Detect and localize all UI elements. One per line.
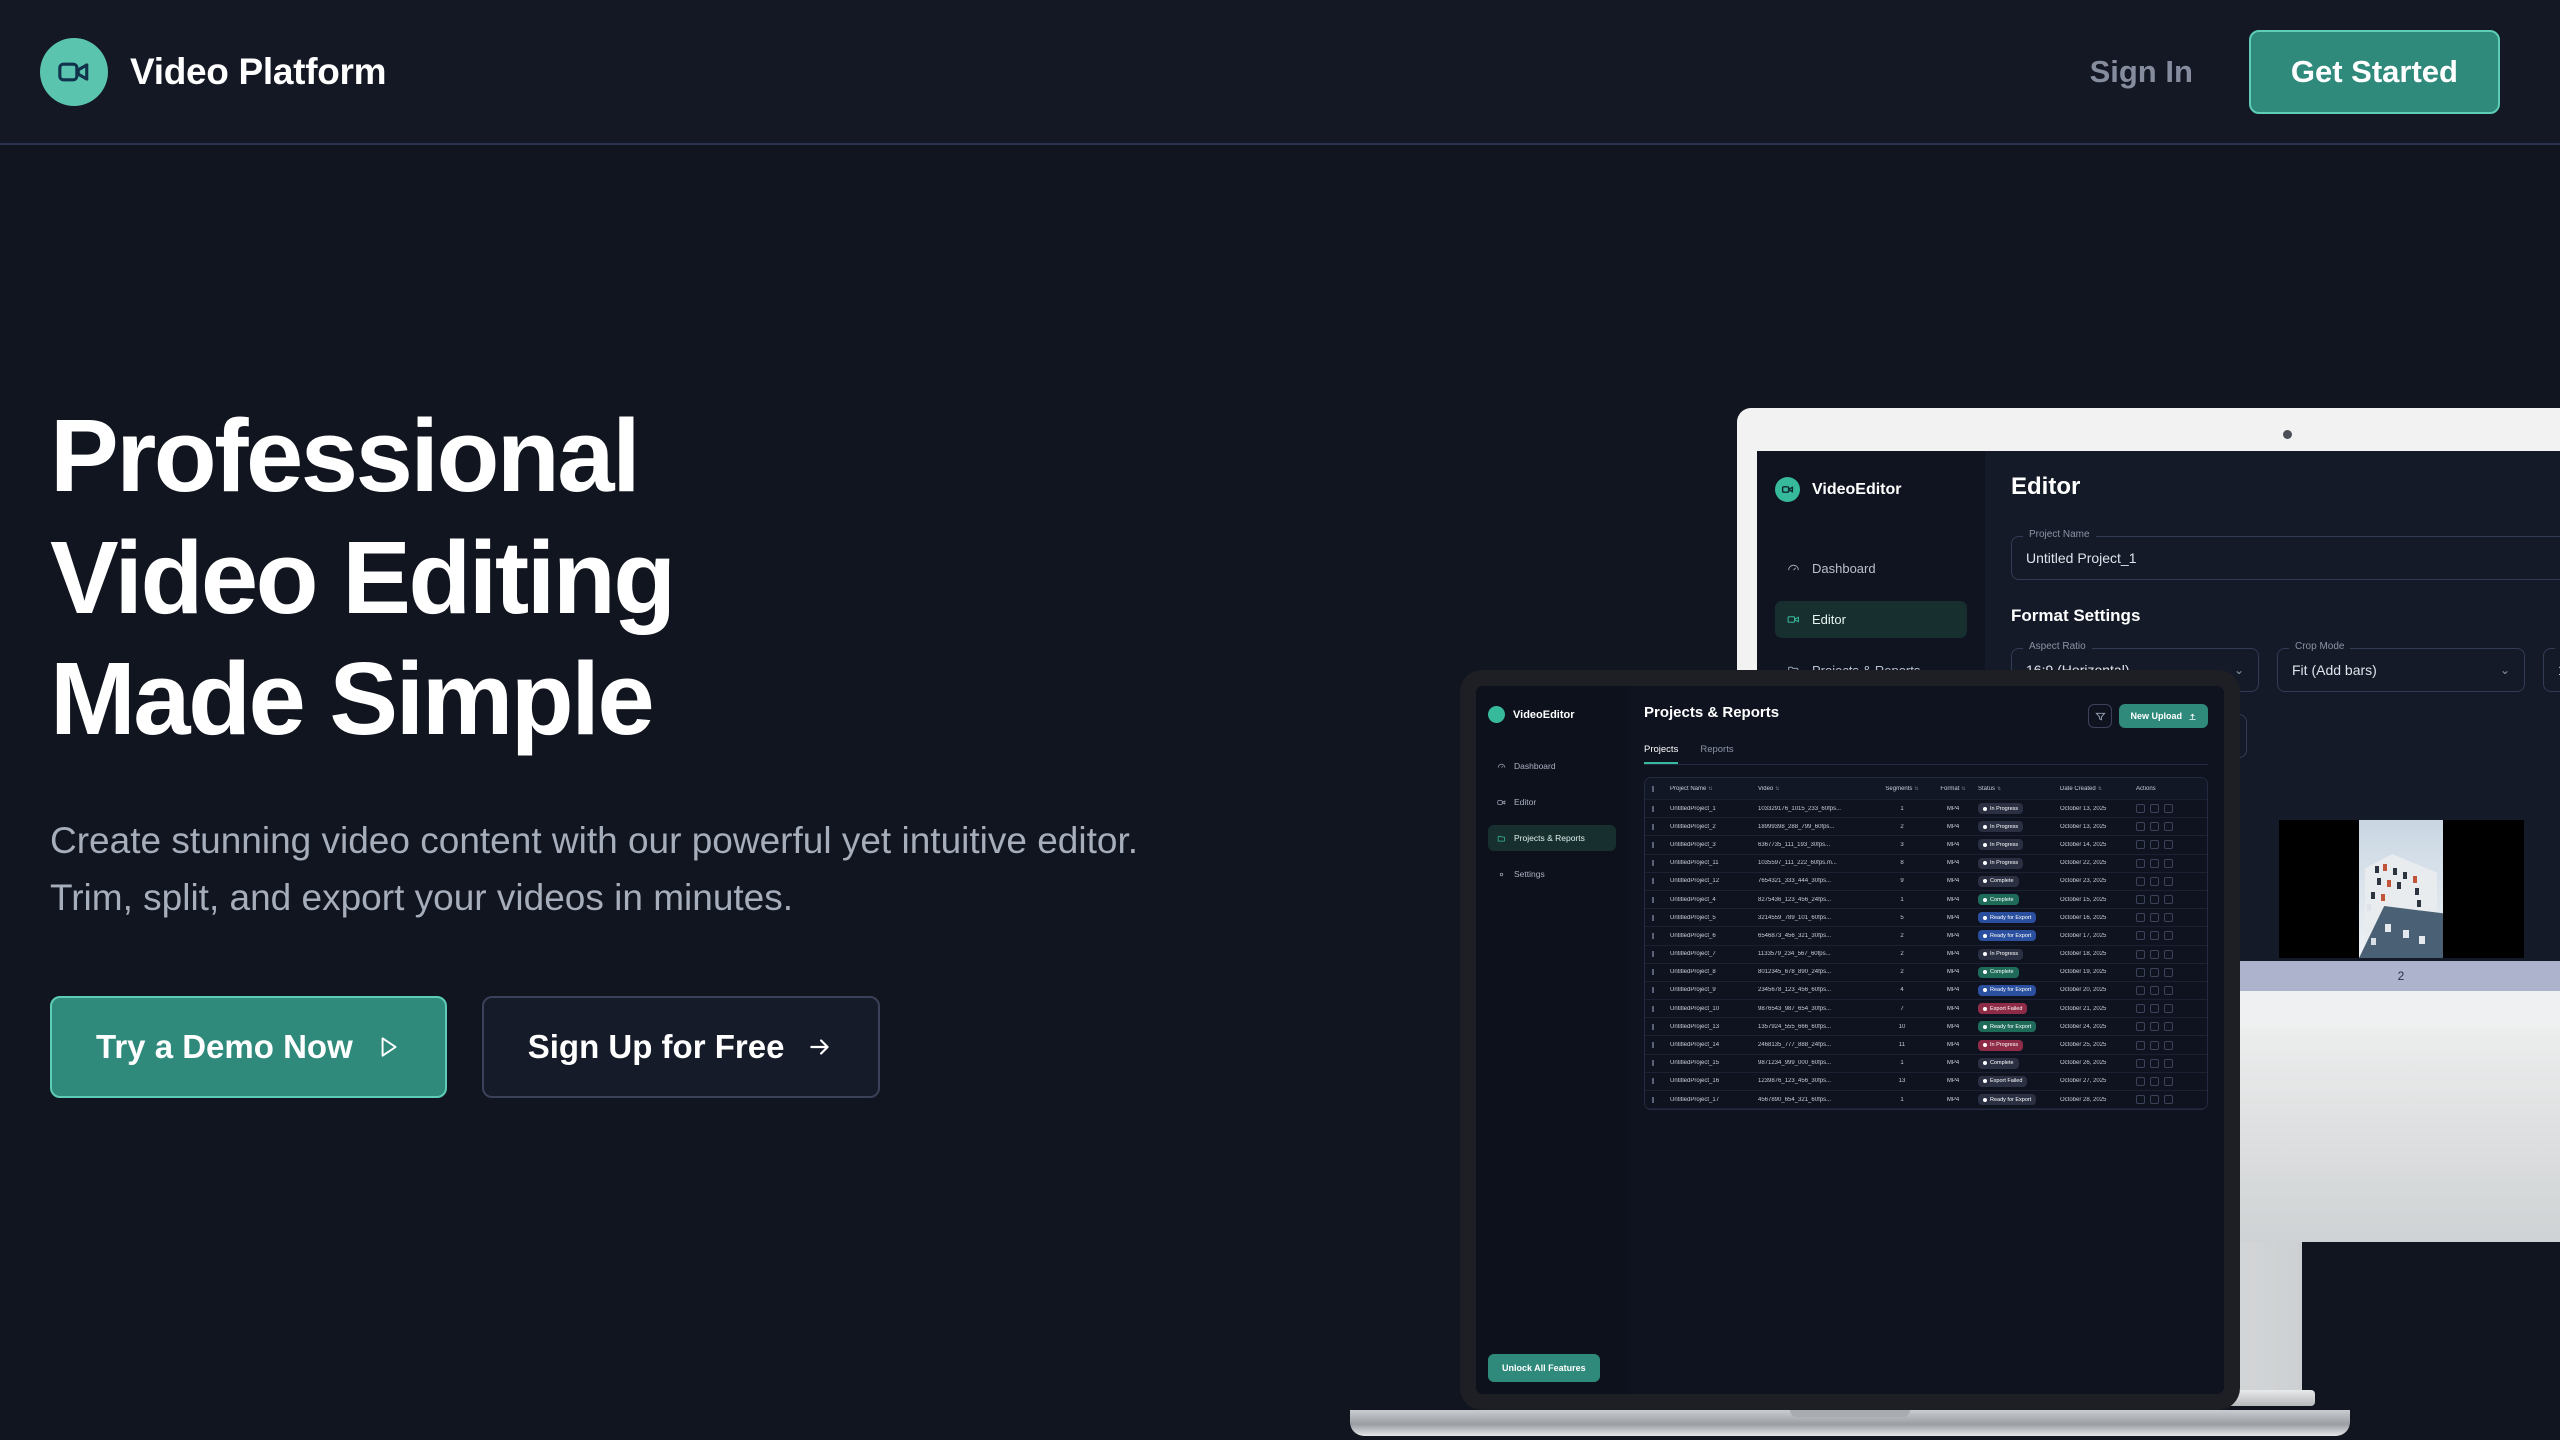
edit-icon[interactable] [2136,804,2145,813]
edit-icon[interactable] [2136,840,2145,849]
cell-date-created: October 16, 2025 [2060,915,2136,921]
edit-icon[interactable] [2136,913,2145,922]
column-header-actions: Actions [2136,786,2192,792]
project-name-field[interactable]: Project Name Untitled Project_1 [2011,536,2560,580]
cell-project-name: UntitledProject_4 [1670,897,1758,903]
crop-mode-select[interactable]: Crop Mode Fit (Add bars) ⌄ [2277,648,2525,692]
aspect-ratio-label: Aspect Ratio [2023,641,2092,652]
sidebar-item-label: Dashboard [1514,761,1556,771]
download-icon[interactable] [2150,950,2159,959]
projects-main: Projects & Reports New Upload [1628,686,2224,1394]
table-row[interactable]: UntitledProject_131357924_555_666_60fps.… [1645,1018,2207,1036]
column-header-status[interactable]: Status⇅ [1978,786,2060,792]
headline-line-3: Made Simple [50,641,652,756]
cell-project-name: UntitledProject_2 [1670,824,1758,830]
row-checkbox[interactable] [1652,1097,1670,1103]
crop-mode-label: Crop Mode [2289,641,2350,652]
cell-actions[interactable] [2136,859,2192,868]
edit-icon[interactable] [2136,986,2145,995]
cell-actions[interactable] [2136,913,2192,922]
window [2371,892,2375,899]
edit-icon[interactable] [2136,1022,2145,1031]
cell-actions[interactable] [2136,804,2192,813]
cell-format: MP4 [1932,1097,1978,1103]
brand[interactable]: Video Platform [40,38,386,106]
cell-format: MP4 [1932,806,1978,812]
download-icon[interactable] [2150,1059,2159,1068]
sidebar-item-dashboard[interactable]: Dashboard [1775,550,1967,587]
cell-video: 3214559_789_101_60fps... [1758,915,1876,921]
cell-segments: 5 [1876,915,1932,921]
cell-segments: 13 [1876,1078,1932,1084]
table-header-row: Project Name⇅ Video⇅ Segments⇅ Format⇅ S… [1645,778,2207,800]
cell-actions[interactable] [2136,950,2192,959]
edit-icon[interactable] [2136,968,2145,977]
cell-actions[interactable] [2136,1095,2192,1104]
sort-icon: ⇅ [1708,786,1712,792]
folder-icon [1497,834,1506,843]
cell-date-created: October 13, 2025 [2060,824,2136,830]
cell-project-name: UntitledProject_15 [1670,1060,1758,1066]
row-checkbox[interactable] [1652,824,1670,830]
video-camera-icon [40,38,108,106]
try-demo-label: Try a Demo Now [96,1028,353,1066]
projects-tabs: Projects Reports [1644,744,2208,765]
projects-header-actions: New Upload [2088,704,2208,728]
table-body: UntitledProject_1103329176_1015_233_60fp… [1645,800,2207,1109]
projects-header: Projects & Reports New Upload [1644,704,2208,728]
table-row[interactable]: UntitledProject_218999398_288_799_60fps.… [1645,818,2207,836]
sort-icon: ⇅ [1914,786,1918,792]
cell-project-name: UntitledProject_17 [1670,1097,1758,1103]
cell-video: 2468135_777_888_24fps... [1758,1042,1876,1048]
crop-mode-value: Fit (Add bars) [2292,662,2377,678]
cell-date-created: October 27, 2025 [2060,1078,2136,1084]
sign-up-free-button[interactable]: Sign Up for Free [482,996,881,1098]
site-header: Video Platform Sign In Get Started [0,0,2560,145]
upload-icon [2188,712,2197,721]
cell-project-name: UntitledProject_9 [1670,987,1758,993]
sidebar-item-projects-reports[interactable]: Projects & Reports [1488,825,1616,851]
unlock-all-features-button[interactable]: Unlock All Features [1488,1354,1600,1382]
cell-project-name: UntitledProject_14 [1670,1042,1758,1048]
cell-project-name: UntitledProject_3 [1670,842,1758,848]
cell-project-name: UntitledProject_13 [1670,1024,1758,1030]
cell-segments: 8 [1876,860,1932,866]
download-icon[interactable] [2150,877,2159,886]
sidebar-item-label: Editor [1514,797,1536,807]
status-badge: Ready for Export [1978,1094,2036,1105]
table-row[interactable]: UntitledProject_66546873_456_321_30fps..… [1645,927,2207,945]
download-icon[interactable] [2150,822,2159,831]
sidebar-item-editor[interactable]: Editor [1775,601,1967,638]
status-badge: Export Failed [1978,1003,2027,1014]
column-header-video[interactable]: Video⇅ [1758,786,1876,792]
row-checkbox[interactable] [1652,1042,1670,1048]
download-icon[interactable] [2150,859,2159,868]
cell-actions[interactable] [2136,877,2192,886]
cell-segments: 11 [1876,1042,1932,1048]
delete-icon[interactable] [2164,931,2173,940]
edit-icon[interactable] [2136,895,2145,904]
gauge-icon [1497,762,1506,771]
status-badge: Complete [1978,967,2019,978]
resolution-label: Resolution [2555,641,2560,652]
cell-actions[interactable] [2136,1059,2192,1068]
delete-icon[interactable] [2164,968,2173,977]
building-photo [2359,820,2443,958]
cell-video: 9871234_999_000_60fps... [1758,1060,1876,1066]
cell-format: MP4 [1932,1006,1978,1012]
row-checkbox[interactable] [1652,806,1670,812]
cell-status: Complete [1978,1058,2060,1069]
window [2413,876,2417,883]
edit-icon[interactable] [2136,931,2145,940]
cell-date-created: October 23, 2025 [2060,878,2136,884]
sign-up-label: Sign Up for Free [528,1028,785,1066]
cell-actions[interactable] [2136,1022,2192,1031]
sign-in-link[interactable]: Sign In [2090,54,2193,90]
row-checkbox[interactable] [1652,897,1670,903]
select-all-checkbox[interactable] [1652,786,1670,792]
delete-icon[interactable] [2164,877,2173,886]
laptop-notch [1811,670,1889,683]
status-badge: Ready for Export [1978,1021,2036,1032]
edit-icon[interactable] [2136,877,2145,886]
laptop-trackpad-notch [1790,1410,1910,1417]
delete-icon[interactable] [2164,913,2173,922]
cell-date-created: October 22, 2025 [2060,860,2136,866]
delete-icon[interactable] [2164,1022,2173,1031]
edit-icon[interactable] [2136,1077,2145,1086]
cell-status: In Progress [1978,839,2060,850]
get-started-button[interactable]: Get Started [2249,30,2500,114]
cell-actions[interactable] [2136,931,2192,940]
projects-brand: VideoEditor [1488,706,1616,723]
delete-icon[interactable] [2164,895,2173,904]
cell-video: 6367735_111_193_30fps... [1758,842,1876,848]
cell-format: MP4 [1932,1042,1978,1048]
cell-format: MP4 [1932,933,1978,939]
status-badge: Ready for Export [1978,930,2036,941]
cell-project-name: UntitledProject_12 [1670,878,1758,884]
resolution-select[interactable]: Resolution 1080p (1920x1080) ⌄ [2543,648,2560,692]
row-checkbox[interactable] [1652,1024,1670,1030]
table-row[interactable]: UntitledProject_88012345_678_890_24fps..… [1645,964,2207,982]
cell-segments: 2 [1876,969,1932,975]
cell-segments: 4 [1876,987,1932,993]
status-badge: In Progress [1978,839,2023,850]
format-settings-title: Format Settings [2011,606,2560,626]
hero-subtitle: Create stunning video content with our p… [50,812,1140,927]
cell-project-name: UntitledProject_7 [1670,951,1758,957]
cell-segments: 9 [1876,878,1932,884]
cell-status: In Progress [1978,949,2060,960]
status-badge: In Progress [1978,803,2023,814]
column-header-date-created[interactable]: Date Created⇅ [2060,786,2136,792]
cell-status: In Progress [1978,821,2060,832]
edit-icon[interactable] [2136,822,2145,831]
cell-segments: 1 [1876,897,1932,903]
cell-segments: 7 [1876,1006,1932,1012]
table-row[interactable]: UntitledProject_109876543_987_654_30fps.… [1645,1000,2207,1018]
laptop-lid: VideoEditor Dashboard Editor Projects & … [1460,670,2240,1410]
table-row[interactable]: UntitledProject_71133579_234_567_60fps..… [1645,946,2207,964]
table-row[interactable]: UntitledProject_36367735_111_193_30fps..… [1645,836,2207,854]
cell-actions[interactable] [2136,1077,2192,1086]
cell-actions[interactable] [2136,1004,2192,1013]
sidebar-item-editor[interactable]: Editor [1488,789,1616,815]
tab-projects[interactable]: Projects [1644,744,1678,764]
cell-segments: 2 [1876,824,1932,830]
cell-format: MP4 [1932,842,1978,848]
cell-actions[interactable] [2136,968,2192,977]
cell-date-created: October 17, 2025 [2060,933,2136,939]
cell-format: MP4 [1932,951,1978,957]
delete-icon[interactable] [2164,950,2173,959]
gear-icon [1497,870,1506,879]
cell-segments: 1 [1876,806,1932,812]
cell-video: 8012345_678_890_24fps... [1758,969,1876,975]
cell-format: MP4 [1932,860,1978,866]
product-mockup-scene: VideoEditor Dashboard Editor Projects & … [1330,380,2560,1200]
column-header-project-name[interactable]: Project Name⇅ [1670,786,1758,792]
row-checkbox[interactable] [1652,987,1670,993]
table-row[interactable]: UntitledProject_142468135_777_888_24fps.… [1645,1036,2207,1054]
cell-date-created: October 18, 2025 [2060,951,2136,957]
edit-icon[interactable] [2136,859,2145,868]
brand-name: Video Platform [130,51,386,93]
table-row[interactable]: UntitledProject_92345678_123_456_60fps..… [1645,982,2207,1000]
download-icon[interactable] [2150,986,2159,995]
cell-actions[interactable] [2136,1041,2192,1050]
column-header-segments[interactable]: Segments⇅ [1876,786,1932,792]
edit-icon[interactable] [2136,1059,2145,1068]
cell-video: 4567890_654_321_60fps... [1758,1097,1876,1103]
cell-date-created: October 13, 2025 [2060,806,2136,812]
row-checkbox[interactable] [1652,878,1670,884]
cell-status: In Progress [1978,858,2060,869]
sidebar-item-dashboard[interactable]: Dashboard [1488,753,1616,779]
delete-icon[interactable] [2164,1041,2173,1050]
cell-date-created: October 24, 2025 [2060,1024,2136,1030]
table-row[interactable]: UntitledProject_111035597_111_222_60fps.… [1645,855,2207,873]
cell-segments: 1 [1876,1097,1932,1103]
cell-segments: 2 [1876,951,1932,957]
project-name-value: Untitled Project_1 [2026,550,2137,566]
sidebar-item-label: Editor [1812,612,1846,627]
projects-page-title: Projects & Reports [1644,704,1779,721]
edit-icon[interactable] [2136,1095,2145,1104]
table-row[interactable]: UntitledProject_53214559_789_101_60fps..… [1645,909,2207,927]
new-upload-button[interactable]: New Upload [2119,704,2208,728]
cell-status: Export Failed [1978,1003,2060,1014]
cell-date-created: October 26, 2025 [2060,1060,2136,1066]
cell-video: 1357924_555_666_60fps... [1758,1024,1876,1030]
cell-actions[interactable] [2136,895,2192,904]
play-triangle-icon [375,1034,401,1060]
cell-video: 2345678_123_456_60fps... [1758,987,1876,993]
download-icon[interactable] [2150,913,2159,922]
cell-project-name: UntitledProject_6 [1670,933,1758,939]
cell-video: 9876543_987_654_30fps... [1758,1006,1876,1012]
cell-date-created: October 15, 2025 [2060,897,2136,903]
table-row[interactable]: UntitledProject_127654321_333_444_30fps.… [1645,873,2207,891]
window [2387,880,2391,887]
download-icon[interactable] [2150,804,2159,813]
webcam-icon [2283,430,2292,439]
row-checkbox[interactable] [1652,1006,1670,1012]
sort-icon: ⇅ [1961,786,1965,792]
row-checkbox[interactable] [1652,1078,1670,1084]
new-upload-label: New Upload [2130,711,2182,721]
window [2375,866,2379,873]
download-icon[interactable] [2150,1041,2159,1050]
cell-segments: 1 [1876,1060,1932,1066]
status-badge: In Progress [1978,858,2023,869]
row-checkbox[interactable] [1652,1060,1670,1066]
laptop-mockup: VideoEditor Dashboard Editor Projects & … [1330,670,2240,1436]
cell-video: 1239876_123_456_30fps... [1758,1078,1876,1084]
download-icon[interactable] [2150,840,2159,849]
download-icon[interactable] [2150,1095,2159,1104]
cell-status: Complete [1978,967,2060,978]
cell-status: Complete [1978,876,2060,887]
row-checkbox[interactable] [1652,860,1670,866]
delete-icon[interactable] [2164,840,2173,849]
window [2371,938,2376,945]
window [2381,894,2385,901]
row-checkbox[interactable] [1652,969,1670,975]
cell-date-created: October 14, 2025 [2060,842,2136,848]
sort-icon: ⇅ [2098,786,2102,792]
window [2417,900,2421,907]
laptop-base [1350,1410,2350,1436]
cell-status: Complete [1978,894,2060,905]
table-row[interactable]: UntitledProject_1103329176_1015_233_60fp… [1645,800,2207,818]
delete-icon[interactable] [2164,1095,2173,1104]
edit-icon[interactable] [2136,1004,2145,1013]
delete-icon[interactable] [2164,859,2173,868]
status-badge: Complete [1978,894,2019,905]
video-player[interactable] [2279,820,2524,958]
cell-format: MP4 [1932,1060,1978,1066]
table-row[interactable]: UntitledProject_174567890_654_321_60fps.… [1645,1091,2207,1109]
sidebar-item-settings[interactable]: Settings [1488,861,1616,887]
delete-icon[interactable] [2164,1077,2173,1086]
download-icon[interactable] [2150,895,2159,904]
window [2403,872,2407,879]
status-badge: Complete [1978,876,2019,887]
window [2393,868,2397,875]
window [2367,904,2371,911]
laptop-screen: VideoEditor Dashboard Editor Projects & … [1476,686,2224,1394]
column-header-format[interactable]: Format⇅ [1932,786,1978,792]
cell-project-name: UntitledProject_8 [1670,969,1758,975]
cell-video: 103329176_1015_233_60fps... [1758,806,1876,812]
delete-icon[interactable] [2164,1004,2173,1013]
delete-icon[interactable] [2164,804,2173,813]
cell-status: Ready for Export [1978,930,2060,941]
download-icon[interactable] [2150,968,2159,977]
row-checkbox[interactable] [1652,842,1670,848]
cell-format: MP4 [1932,987,1978,993]
download-icon[interactable] [2150,1022,2159,1031]
table-row[interactable]: UntitledProject_48275436_123_456_24fps..… [1645,891,2207,909]
row-checkbox[interactable] [1652,915,1670,921]
status-badge: In Progress [1978,821,2023,832]
hero-section: Professional Video Editing Made Simple C… [0,145,1250,1098]
sort-icon: ⇅ [1775,786,1779,792]
sidebar-item-label: Projects & Reports [1514,833,1585,843]
cell-format: MP4 [1932,878,1978,884]
projects-sidebar: VideoEditor Dashboard Editor Projects & … [1476,686,1628,1394]
cell-actions[interactable] [2136,822,2192,831]
sort-icon: ⇅ [1997,786,2001,792]
row-checkbox[interactable] [1652,951,1670,957]
project-name-label: Project Name [2023,529,2096,540]
status-badge: Export Failed [1978,1076,2027,1087]
cell-segments: 3 [1876,842,1932,848]
chevron-down-icon: ⌄ [2500,663,2510,677]
cell-date-created: October 21, 2025 [2060,1006,2136,1012]
delete-icon[interactable] [2164,1059,2173,1068]
cell-project-name: UntitledProject_16 [1670,1078,1758,1084]
cell-actions[interactable] [2136,840,2192,849]
cell-status: In Progress [1978,803,2060,814]
cell-format: MP4 [1932,1078,1978,1084]
cell-status: Ready for Export [1978,1021,2060,1032]
tab-reports[interactable]: Reports [1700,744,1733,764]
window [2377,878,2381,885]
download-icon[interactable] [2150,931,2159,940]
video-camera-icon [1787,613,1800,626]
cell-format: MP4 [1932,969,1978,975]
cell-format: MP4 [1932,1024,1978,1030]
cell-format: MP4 [1932,897,1978,903]
cell-actions[interactable] [2136,986,2192,995]
spacer [2537,692,2560,758]
status-badge: Complete [1978,1058,2019,1069]
editor-brand: VideoEditor [1775,477,1967,502]
delete-icon[interactable] [2164,986,2173,995]
cell-format: MP4 [1932,824,1978,830]
funnel-icon[interactable] [2088,704,2112,728]
download-icon[interactable] [2150,1077,2159,1086]
headline-line-1: Professional [50,398,638,513]
cell-video: 18999398_288_799_60fps... [1758,824,1876,830]
editor-brand-name: VideoEditor [1812,481,1902,499]
header-nav: Sign In Get Started [2090,30,2520,114]
delete-icon[interactable] [2164,822,2173,831]
cell-project-name: UntitledProject_11 [1670,860,1758,866]
download-icon[interactable] [2150,1004,2159,1013]
status-badge: Ready for Export [1978,912,2036,923]
video-camera-icon [1497,798,1506,807]
cell-date-created: October 19, 2025 [2060,969,2136,975]
cell-segments: 2 [1876,933,1932,939]
cell-project-name: UntitledProject_10 [1670,1006,1758,1012]
edit-icon[interactable] [2136,950,2145,959]
edit-icon[interactable] [2136,1041,2145,1050]
table-row[interactable]: UntitledProject_161239876_123_456_30fps.… [1645,1073,2207,1091]
row-checkbox[interactable] [1652,933,1670,939]
cell-video: 1035597_111_222_60fps.m... [1758,860,1876,866]
table-row[interactable]: UntitledProject_159871234_999_000_60fps.… [1645,1055,2207,1073]
sidebar-item-label: Settings [1514,869,1545,879]
gauge-icon [1787,562,1800,575]
try-demo-button[interactable]: Try a Demo Now [50,996,447,1098]
